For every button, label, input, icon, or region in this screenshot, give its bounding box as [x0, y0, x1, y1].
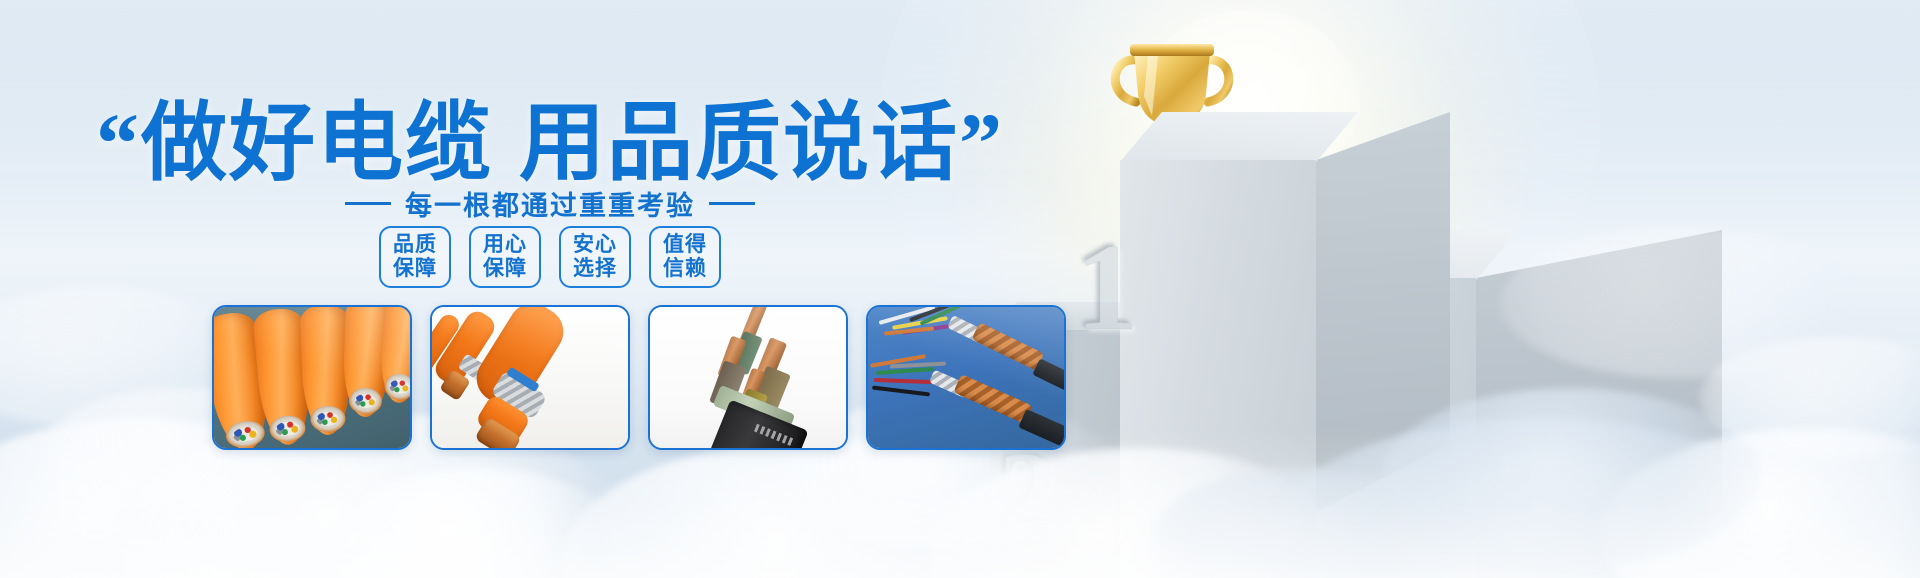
orange-stripped-cable-photo	[432, 307, 628, 448]
subtitle-text: 每一根都通过重重考验	[405, 184, 695, 223]
product-card-orange-stripped[interactable]	[430, 305, 630, 450]
orange-multicore-cable-photo	[214, 307, 410, 448]
product-card-shielded-braided[interactable]	[866, 305, 1066, 450]
banner-subtitle: 每一根都通过重重考验	[0, 184, 1100, 223]
sun-core	[1140, 10, 1360, 190]
product-card-orange-multicore[interactable]	[212, 305, 412, 450]
badge-line-2: 保障	[393, 257, 437, 281]
promo-banner: 1 2 3 “做好电缆 用品质说话” 每一根都通过重重考验	[0, 0, 1920, 578]
trust-badge-choice[interactable]: 安心 选择	[559, 226, 631, 288]
headline-part-2: 用品质说话	[519, 95, 959, 191]
trust-badge-quality[interactable]: 品质 保障	[379, 226, 451, 288]
podium-block-3	[1280, 278, 1476, 578]
product-card-list	[212, 305, 1112, 450]
badge-line-1: 安心	[573, 233, 617, 257]
trust-badge-care[interactable]: 用心 保障	[469, 226, 541, 288]
shielded-braided-cable-photo	[868, 307, 1064, 448]
close-quote: ”	[959, 95, 1004, 191]
black-power-cable-photo	[650, 307, 846, 448]
podium-rank-3: 3	[1492, 430, 1556, 558]
badge-line-1: 值得	[663, 233, 707, 257]
product-card-black-power[interactable]	[648, 305, 848, 450]
badge-line-2: 保障	[483, 257, 527, 281]
trust-badge-trust[interactable]: 值得 信赖	[649, 226, 721, 288]
badge-line-1: 用心	[483, 233, 527, 257]
rule-right-icon	[709, 202, 755, 205]
banner-headline: “做好电缆 用品质说话”	[0, 72, 1100, 197]
rule-left-icon	[345, 202, 391, 205]
open-quote: “	[96, 95, 141, 191]
badge-line-2: 选择	[573, 257, 617, 281]
trophy-icon	[1092, 30, 1252, 180]
trust-badge-list: 品质 保障 用心 保障 安心 选择 值得 信赖	[0, 226, 1100, 288]
badge-line-1: 品质	[393, 233, 437, 257]
headline-part-1: 做好电缆	[141, 95, 493, 191]
badge-line-2: 信赖	[663, 257, 707, 281]
banner-content: “做好电缆 用品质说话” 每一根都通过重重考验 品质 保障 用心 保障 安心 选…	[0, 0, 1100, 578]
podium-block-1	[1120, 160, 1316, 578]
